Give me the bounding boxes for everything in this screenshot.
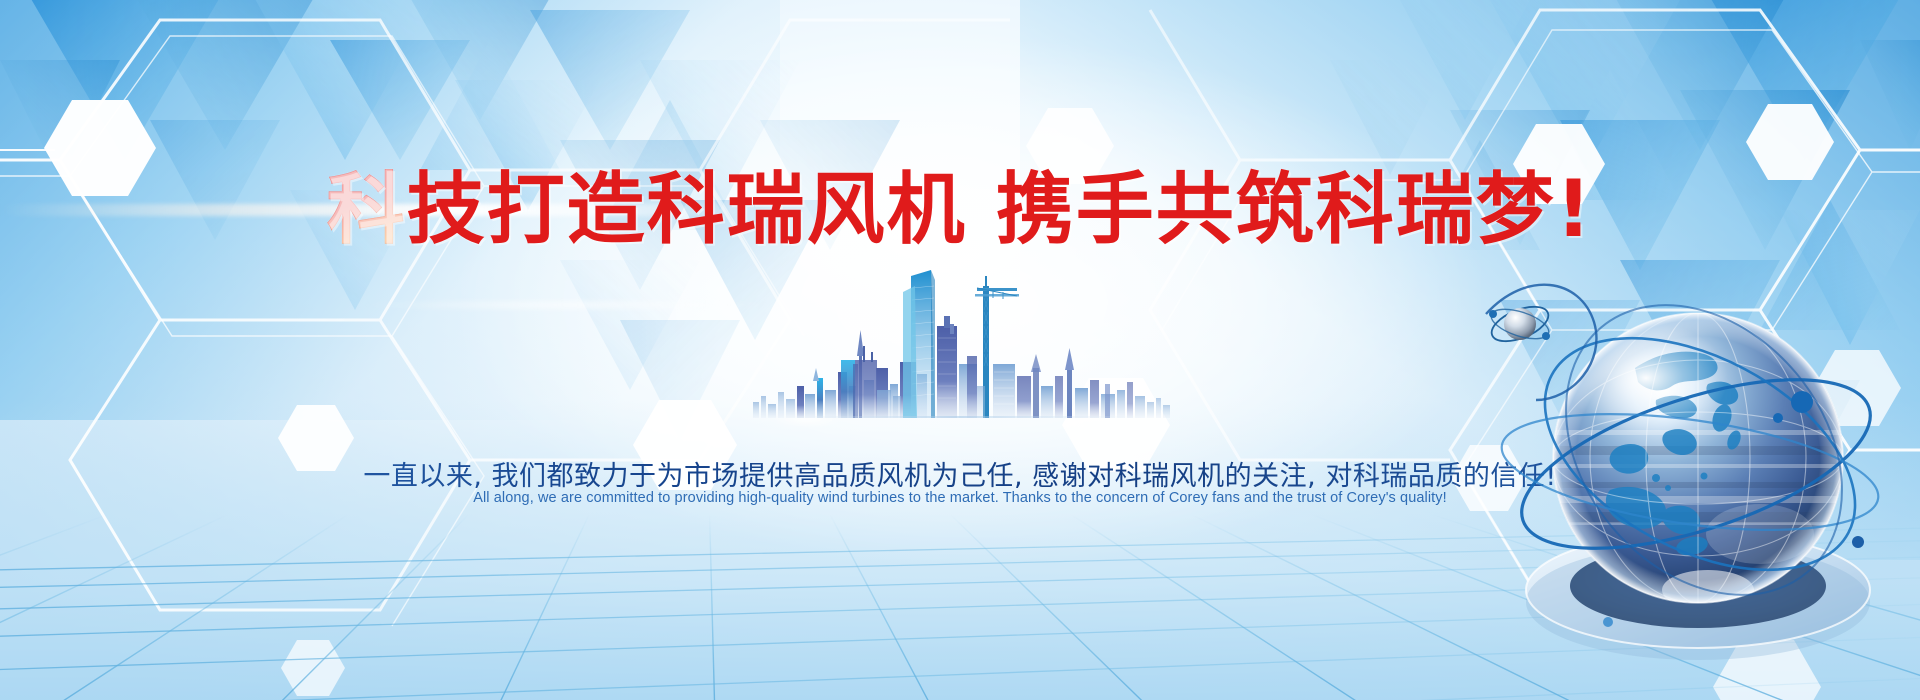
city-skyline-graphic xyxy=(745,268,1175,418)
satellite-atom-icon xyxy=(1487,300,1553,348)
globe-graphic xyxy=(1460,250,1920,700)
headline-rest: 技打造科瑞风机 携手共筑科瑞梦! xyxy=(407,165,1594,255)
hero-banner: 科技打造科瑞风机 携手共筑科瑞梦! xyxy=(0,0,1920,700)
page-title: 科技打造科瑞风机 携手共筑科瑞梦! xyxy=(0,170,1920,252)
headline-accent-char: 科 xyxy=(327,165,407,255)
light-streak-secondary xyxy=(360,300,780,310)
